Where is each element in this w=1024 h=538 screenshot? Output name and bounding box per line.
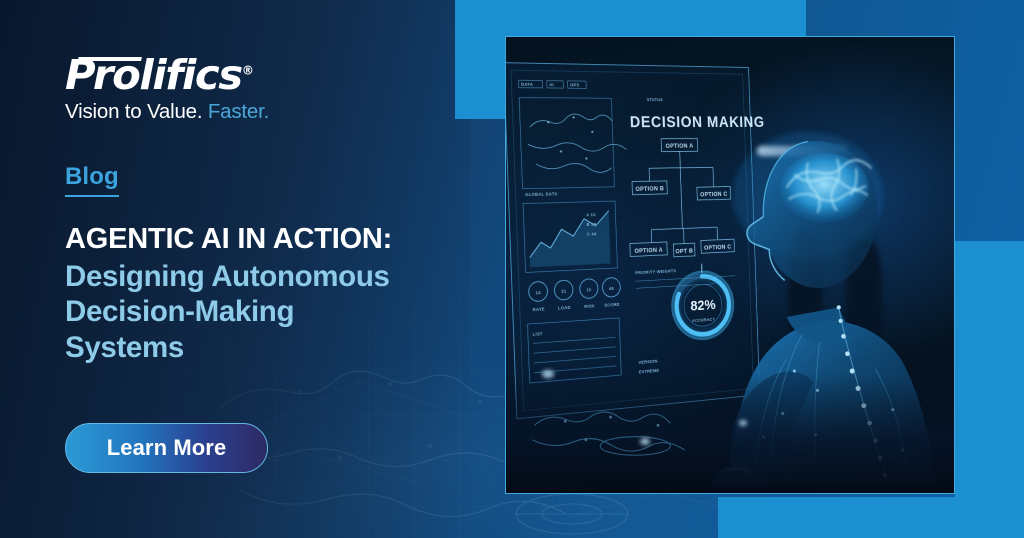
svg-text:14: 14 — [536, 290, 542, 295]
logo-wordmark-text: Prolifics — [65, 51, 242, 99]
svg-text:A 12: A 12 — [586, 212, 596, 217]
hero-glow-dot-a — [542, 370, 554, 378]
learn-more-button-label: Learn More — [107, 435, 227, 461]
svg-text:31: 31 — [561, 289, 567, 294]
learn-more-button[interactable]: Learn More — [65, 423, 268, 473]
svg-text:AI: AI — [549, 83, 554, 88]
headline-line-4: Systems — [65, 330, 465, 365]
svg-text:LIST: LIST — [533, 332, 543, 338]
logo-tagline: Vision to Value. Faster. — [65, 101, 325, 124]
svg-text:STATUS: STATUS — [647, 97, 663, 102]
svg-text:OPTION B: OPTION B — [636, 186, 665, 193]
registered-trademark-icon: ® — [242, 63, 254, 77]
headline-line-3: Decision-Making — [65, 294, 465, 329]
page-title: Agentic AI in Action: Designing Autonomo… — [65, 222, 465, 365]
svg-text:OPS: OPS — [570, 83, 580, 88]
hero-glow-dot-c — [739, 420, 747, 426]
logo-tagline-part1: Vision to Value. — [65, 100, 202, 123]
prolifics-logo[interactable]: Prolifics® Vision to Value. Faster. — [65, 55, 325, 124]
hero-image: DATA AI OPS — [505, 36, 955, 494]
svg-text:B 28: B 28 — [587, 222, 597, 227]
headline-line-1: Agentic AI in Action: — [65, 222, 465, 257]
blog-promo-banner: Prolifics® Vision to Value. Faster. Blog… — [0, 0, 1024, 538]
accent-block-bottom — [718, 497, 1024, 538]
accent-block-top-column — [455, 0, 506, 119]
svg-text:46: 46 — [609, 286, 614, 291]
accent-block-right — [955, 241, 1024, 538]
svg-text:12: 12 — [586, 287, 591, 292]
content-type-label[interactable]: Blog — [65, 163, 119, 197]
hero-desk-holographic-map — [524, 393, 730, 466]
svg-text:OPT B: OPT B — [675, 248, 693, 255]
accent-block-top-bar — [455, 0, 806, 38]
svg-text:RISK: RISK — [584, 304, 595, 310]
svg-text:C 44: C 44 — [587, 232, 597, 237]
svg-text:OPTION A: OPTION A — [666, 143, 694, 150]
headline-line-2: Designing Autonomous — [65, 259, 465, 294]
svg-text:DATA: DATA — [521, 82, 534, 87]
logo-wordmark: Prolifics® — [65, 55, 254, 96]
logo-tagline-part2: Faster. — [208, 100, 269, 123]
